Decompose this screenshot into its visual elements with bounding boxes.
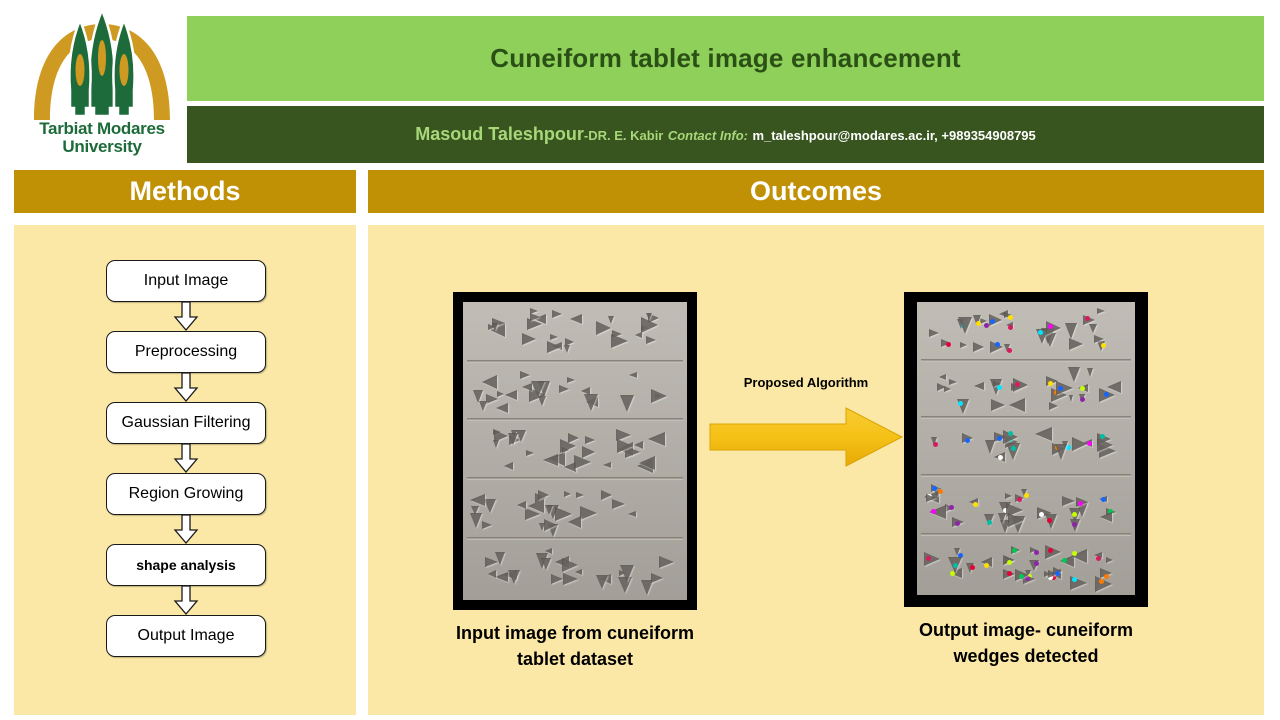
output-figure-caption: Output image- cuneiform wedges detected: [904, 617, 1148, 669]
cuneiform-wedge: [973, 342, 984, 352]
cuneiform-wedge: [1106, 557, 1113, 563]
cuneiform-wedge: [634, 441, 643, 449]
cuneiform-wedge: [1094, 335, 1104, 343]
cuneiform-wedge: [547, 341, 561, 353]
methods-header-label: Methods: [130, 176, 241, 207]
detected-wedge-marker: [1062, 558, 1067, 563]
cuneiform-wedge: [1087, 368, 1093, 377]
detected-wedge-marker: [1099, 579, 1104, 584]
cuneiform-wedge: [538, 396, 546, 406]
cuneiform-wedge: [570, 314, 582, 324]
down-arrow-icon: [173, 302, 199, 331]
contact-info-value: m_taleshpour@modares.ac.ir, +98935490879…: [752, 128, 1035, 143]
input-figure-caption: Input image from cuneiform tablet datase…: [453, 620, 697, 672]
cuneiform-wedge: [484, 499, 496, 513]
cuneiform-wedge: [1069, 395, 1073, 402]
poster-title-bar: Cuneiform tablet image enhancement: [187, 16, 1264, 101]
flow-step-label: Region Growing: [129, 485, 244, 503]
cuneiform-wedge: [960, 342, 967, 348]
cuneiform-wedge: [508, 570, 520, 584]
cuneiform-wedge: [603, 462, 611, 468]
detected-wedge-marker: [1034, 550, 1039, 555]
author-line: Masoud Taleshpour-DR. E. Kabir Contact I…: [415, 124, 1036, 145]
cuneiform-wedge: [544, 519, 557, 531]
cuneiform-wedge: [929, 329, 939, 337]
cuneiform-wedge: [479, 401, 487, 411]
cuneiform-wedge: [1069, 338, 1083, 350]
poster-header: Tarbiat Modares University Cuneiform tab…: [0, 0, 1280, 168]
methods-panel: Input Image Preprocessing Gaussian Filte…: [14, 225, 356, 715]
cuneiform-wedge: [485, 557, 498, 567]
down-arrow-icon: [173, 444, 199, 473]
cuneiform-tablet-input-image: [453, 292, 697, 610]
cuneiform-wedge: [495, 572, 508, 582]
cuneiform-wedge: [1065, 323, 1077, 339]
cuneiform-wedge: [559, 385, 569, 393]
page-title: Cuneiform tablet image enhancement: [490, 43, 961, 74]
cuneiform-wedge: [530, 313, 540, 321]
cuneiform-wedge: [1009, 398, 1025, 412]
cuneiform-wedge: [545, 505, 553, 515]
detected-wedge-marker: [984, 323, 989, 328]
flow-step-preprocessing: Preprocessing: [106, 331, 266, 373]
detected-wedge-marker: [958, 401, 963, 406]
detected-wedge-marker: [1019, 574, 1024, 579]
flow-step-region-growing: Region Growing: [106, 473, 266, 515]
detected-wedge-marker: [1101, 343, 1106, 348]
university-logo-wordmark: Tarbiat Modares University: [22, 120, 182, 156]
cuneiform-wedge: [646, 336, 656, 344]
author-supervisor: -DR. E. Kabir: [584, 128, 663, 143]
flow-step-label: shape analysis: [136, 557, 236, 573]
flow-step-label: Preprocessing: [135, 343, 237, 361]
flow-step-label: Output Image: [138, 627, 235, 645]
outcomes-panel: Input image from cuneiform tablet datase…: [368, 225, 1264, 715]
university-logo-mark: [22, 8, 182, 126]
cuneiform-wedge: [567, 377, 575, 383]
cuneiform-wedge: [617, 439, 633, 453]
cuneiform-wedge: [508, 433, 518, 445]
cuneiform-wedge: [1089, 324, 1097, 333]
detected-wedge-marker: [995, 342, 1000, 347]
cuneiform-wedge: [939, 374, 946, 380]
detected-wedge-marker: [1008, 315, 1013, 320]
down-arrow-icon: [173, 373, 199, 402]
cuneiform-wedge: [944, 386, 951, 392]
cuneiform-wedge: [482, 521, 492, 529]
detected-wedge-marker: [1072, 551, 1077, 556]
cuneiform-wedge: [991, 399, 1005, 411]
cuneiform-wedge: [470, 494, 485, 506]
cuneiform-wedge: [949, 379, 957, 385]
poster-author-bar: Masoud Taleshpour-DR. E. Kabir Contact I…: [187, 106, 1264, 163]
cuneiform-wedge: [1107, 381, 1121, 393]
methods-flowchart: Input Image Preprocessing Gaussian Filte…: [51, 260, 321, 657]
cuneiform-wedge: [1035, 427, 1052, 441]
tablet-ruling-line: [467, 418, 682, 421]
cuneiform-wedge: [550, 334, 558, 340]
cuneiform-wedge: [568, 433, 579, 443]
cuneiform-wedge: [629, 372, 637, 378]
flow-arrow-icon: [106, 444, 266, 473]
tablet-surface-detected: [917, 302, 1135, 595]
detected-wedge-marker: [1007, 348, 1012, 353]
proposed-algorithm-label: Proposed Algorithm: [708, 375, 904, 390]
cuneiform-wedge: [562, 447, 569, 453]
cuneiform-wedge: [531, 381, 545, 397]
cuneiform-wedge: [497, 391, 504, 397]
proposed-algorithm-group: Proposed Algorithm: [708, 375, 904, 473]
detected-wedge-marker: [987, 520, 992, 525]
cuneiform-wedge: [1055, 444, 1067, 460]
cuneiform-wedge: [1062, 496, 1075, 506]
cuneiform-wedge: [1049, 402, 1058, 410]
cuneiform-wedge: [522, 383, 532, 391]
cuneiform-wedge: [584, 394, 598, 411]
cuneiform-tablet-output-image: [904, 292, 1148, 607]
flow-step-label: Input Image: [144, 272, 229, 290]
tablet-ruling-line: [467, 537, 682, 540]
detected-wedge-marker: [1104, 392, 1109, 397]
cuneiform-wedge: [564, 491, 571, 497]
cuneiform-wedge: [488, 570, 496, 578]
detected-wedge-marker: [1008, 325, 1013, 330]
cuneiform-wedge: [1097, 308, 1105, 314]
tablet-ruling-line: [467, 360, 682, 363]
detected-wedge-marker: [1085, 316, 1090, 321]
cuneiform-wedge: [596, 321, 611, 335]
output-figure: Output image- cuneiform wedges detected: [904, 292, 1148, 669]
detected-wedge-marker: [1011, 446, 1016, 451]
detected-wedge-marker: [976, 321, 981, 326]
cuneiform-wedge: [612, 499, 625, 509]
cuneiform-wedge: [596, 575, 608, 589]
methods-section-header: Methods: [14, 170, 356, 213]
cuneiform-wedge: [1008, 513, 1024, 527]
detected-wedge-marker: [938, 489, 943, 494]
cuneiform-wedge: [562, 558, 578, 572]
cuneiform-wedge: [526, 450, 534, 456]
tablet-ruling-line: [921, 533, 1130, 536]
cuneiform-wedge: [496, 403, 508, 413]
cuneiform-wedge: [1005, 493, 1012, 499]
down-arrow-icon: [173, 586, 199, 615]
input-figure: Input image from cuneiform tablet datase…: [453, 292, 697, 672]
contact-info-label: Contact Info:: [668, 128, 748, 143]
detected-wedge-marker: [1017, 497, 1022, 502]
cuneiform-wedge: [582, 446, 595, 458]
cuneiform-wedge: [958, 317, 972, 334]
detected-wedge-marker: [984, 563, 989, 568]
cuneiform-wedge: [635, 332, 642, 338]
cuneiform-wedge: [639, 456, 655, 470]
cuneiform-wedge: [576, 492, 584, 498]
cuneiform-wedge: [648, 432, 665, 446]
cuneiform-wedge: [493, 440, 499, 448]
cuneiform-wedge: [611, 334, 628, 348]
cuneiform-wedge: [504, 462, 513, 470]
right-arrow-icon: [708, 406, 904, 468]
cuneiform-wedge: [646, 313, 652, 320]
cuneiform-wedge: [1100, 512, 1112, 522]
down-arrow-icon: [173, 515, 199, 544]
cuneiform-wedge: [482, 375, 497, 389]
cuneiform-wedge: [517, 501, 526, 509]
cuneiform-wedge: [505, 390, 517, 400]
cuneiform-wedge: [552, 310, 562, 318]
tablet-surface: [463, 302, 687, 600]
outcomes-header-label: Outcomes: [750, 176, 882, 207]
cuneiform-wedge: [659, 556, 674, 568]
flow-step-output-image: Output Image: [106, 615, 266, 657]
detected-wedge-marker: [1080, 397, 1085, 402]
detected-wedge-marker: [1007, 571, 1012, 576]
flow-step-shape-analysis: shape analysis: [106, 544, 266, 586]
outcomes-section-header: Outcomes: [368, 170, 1264, 213]
cuneiform-wedge: [985, 440, 995, 454]
flow-arrow-icon: [106, 515, 266, 544]
cuneiform-wedge: [470, 513, 482, 528]
detected-wedge-marker: [970, 565, 975, 570]
logo-wordmark-line1: Tarbiat Modares: [22, 120, 182, 138]
cuneiform-wedge: [974, 382, 984, 390]
logo-wordmark-line2: University: [22, 138, 182, 156]
cuneiform-wedge: [538, 490, 549, 500]
tablet-ruling-line: [921, 416, 1130, 419]
flow-step-label: Gaussian Filtering: [122, 414, 251, 432]
flow-step-input-image: Input Image: [106, 260, 266, 302]
cuneiform-wedge: [651, 389, 667, 403]
detected-wedge-marker: [1096, 556, 1101, 561]
cuneiform-wedge: [528, 499, 544, 513]
cuneiform-wedge: [651, 573, 663, 583]
cuneiform-wedge: [520, 371, 530, 379]
tablet-ruling-line: [921, 474, 1130, 477]
detected-wedge-marker: [973, 502, 978, 507]
cuneiform-wedge: [580, 506, 597, 520]
author-name: Masoud Taleshpour: [415, 124, 584, 144]
cuneiform-wedge: [585, 436, 595, 444]
cuneiform-wedge: [564, 345, 570, 353]
detected-wedge-marker: [926, 556, 931, 561]
detected-wedge-marker: [1024, 493, 1029, 498]
cuneiform-wedge: [620, 395, 634, 412]
flow-arrow-icon: [106, 586, 266, 615]
cuneiform-wedge: [1097, 438, 1113, 452]
tablet-ruling-line: [921, 359, 1130, 362]
university-logo: Tarbiat Modares University: [22, 8, 182, 163]
cuneiform-wedge: [620, 565, 634, 582]
detected-wedge-marker: [1078, 501, 1083, 506]
detected-wedge-marker: [1034, 561, 1039, 566]
tablet-ruling-line: [467, 477, 682, 480]
cuneiform-wedge: [555, 507, 572, 521]
cuneiform-wedge: [541, 558, 551, 570]
cuneiform-wedge: [543, 454, 558, 466]
cuneiform-wedge: [628, 511, 636, 517]
detected-wedge-marker: [1104, 574, 1109, 579]
cuneiform-wedge: [563, 573, 578, 585]
flow-arrow-icon: [106, 302, 266, 331]
cuneiform-wedge: [1072, 437, 1087, 451]
cuneiform-wedge: [522, 333, 536, 345]
cuneiform-wedge: [492, 323, 498, 331]
detected-wedge-marker: [1007, 560, 1012, 565]
cuneiform-wedge: [601, 490, 612, 500]
flow-arrow-icon: [106, 373, 266, 402]
cuneiform-wedge: [551, 574, 563, 584]
detected-wedge-marker: [953, 563, 958, 568]
cuneiform-wedge: [998, 513, 1006, 524]
detected-wedge-marker: [933, 442, 938, 447]
flow-step-gaussian-filtering: Gaussian Filtering: [106, 402, 266, 444]
